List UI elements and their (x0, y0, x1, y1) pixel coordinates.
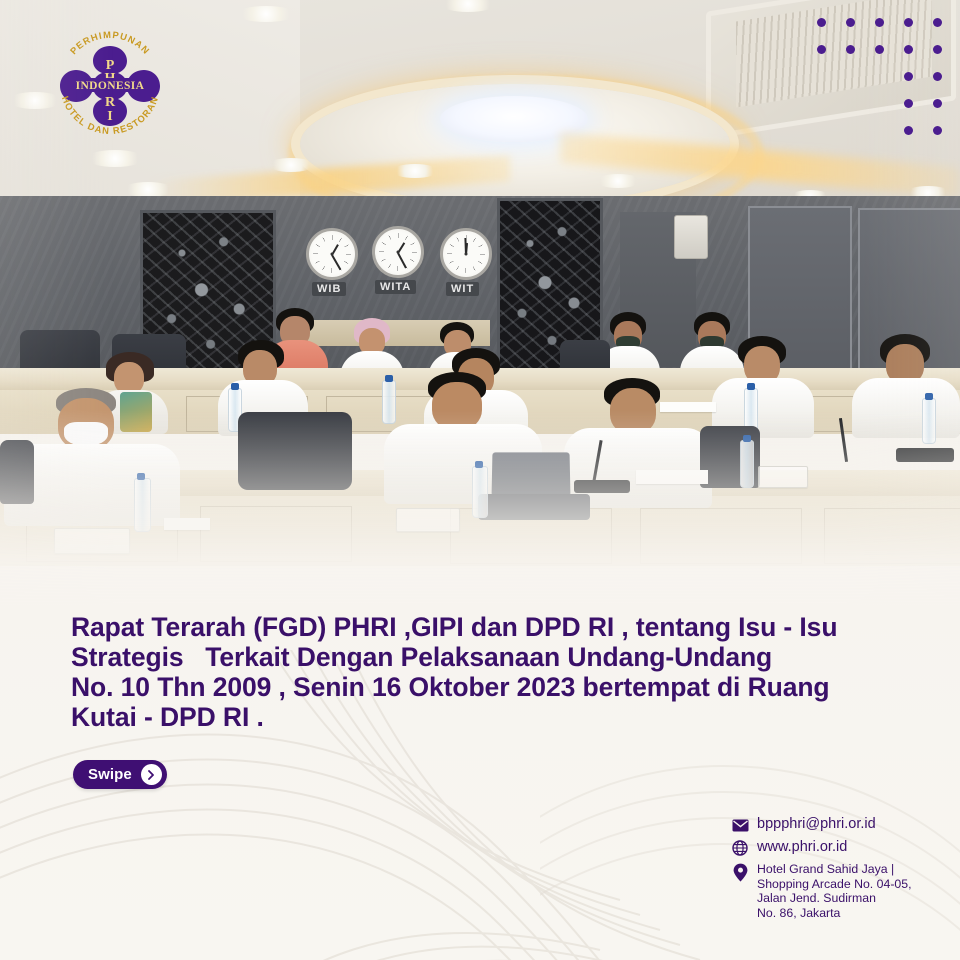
meeting-room-photo: P H R I INDONESIA PERHIMPUNAN HOTEL DAN … (0, 0, 960, 610)
contact-email-row[interactable]: bppphri@phri.or.id (731, 816, 946, 834)
page-title: Rapat Terarah (FGD) PHRI ,GIPI dan DPD R… (71, 612, 901, 732)
headline-line-4: Kutai - DPD RI . (71, 702, 901, 732)
contact-address-row: Hotel Grand Sahid Jaya | Shopping Arcade… (731, 862, 946, 920)
location-pin-icon (731, 863, 749, 881)
contact-block: bppphri@phri.or.id www.phri.or.id Hotel … (731, 816, 946, 925)
envelope-icon (731, 816, 749, 834)
headline-line-3: No. 10 Thn 2009 , Senin 16 Oktober 2023 … (71, 672, 901, 702)
headline-line-1: Rapat Terarah (FGD) PHRI ,GIPI dan DPD R… (71, 612, 901, 642)
headline-line-2: Strategis Terkait Dengan Pelaksanaan Und… (71, 642, 901, 672)
globe-icon (731, 839, 749, 857)
email-text: bppphri@phri.or.id (757, 816, 876, 833)
contact-website-row[interactable]: www.phri.or.id (731, 839, 946, 857)
address-line-2: Shopping Arcade No. 04-05, (757, 877, 912, 891)
swipe-label: Swipe (88, 766, 132, 783)
address-line-3: Jalan Jend. Sudirman (757, 891, 876, 905)
swipe-button[interactable]: Swipe (73, 760, 167, 789)
address-line-4: No. 86, Jakarta (757, 906, 840, 920)
website-text: www.phri.or.id (757, 839, 847, 856)
address-line-1: Hotel Grand Sahid Jaya | (757, 862, 894, 876)
address-text: Hotel Grand Sahid Jaya | Shopping Arcade… (757, 862, 912, 920)
poster-canvas: P H R I INDONESIA PERHIMPUNAN HOTEL DAN … (0, 0, 960, 960)
chevron-right-icon (141, 764, 162, 785)
photo-fade-overlay (0, 410, 960, 610)
dot-grid-decoration (817, 18, 942, 153)
